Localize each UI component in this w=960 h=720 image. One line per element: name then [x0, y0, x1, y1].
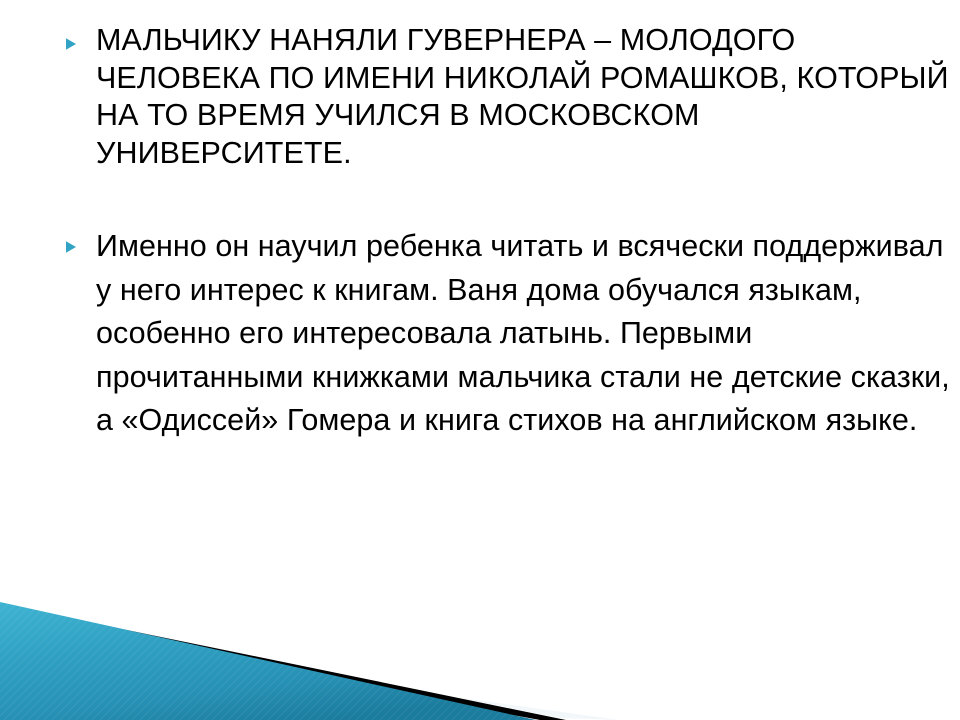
ribbon-teal-triangle	[0, 602, 536, 720]
triangle-right-bullet-icon	[63, 239, 79, 255]
ribbon-teal-texture	[0, 590, 620, 720]
ribbon-black-stripe	[0, 604, 566, 720]
slide-canvas: МАЛЬЧИКУ НАНЯЛИ ГУВЕРНЕРА – МОЛОДОГО ЧЕЛ…	[0, 0, 960, 720]
bullet-paragraph-1-text: МАЛЬЧИКУ НАНЯЛИ ГУВЕРНЕРА – МОЛОДОГО ЧЕЛ…	[96, 22, 958, 172]
bullet-paragraph-2: Именно он научил ребенка читать и всячес…	[58, 172, 958, 443]
bullet-paragraph-1: МАЛЬЧИКУ НАНЯЛИ ГУВЕРНЕРА – МОЛОДОГО ЧЕЛ…	[58, 22, 958, 172]
bullet-paragraph-2-text: Именно он научил ребенка читать и всячес…	[96, 225, 958, 443]
ribbon-pale-band	[0, 606, 620, 720]
triangle-right-bullet-icon	[63, 36, 79, 52]
slide-body-placeholder: МАЛЬЧИКУ НАНЯЛИ ГУВЕРНЕРА – МОЛОДОГО ЧЕЛ…	[58, 22, 958, 443]
bottom-left-diagonal-ribbon	[0, 590, 620, 720]
